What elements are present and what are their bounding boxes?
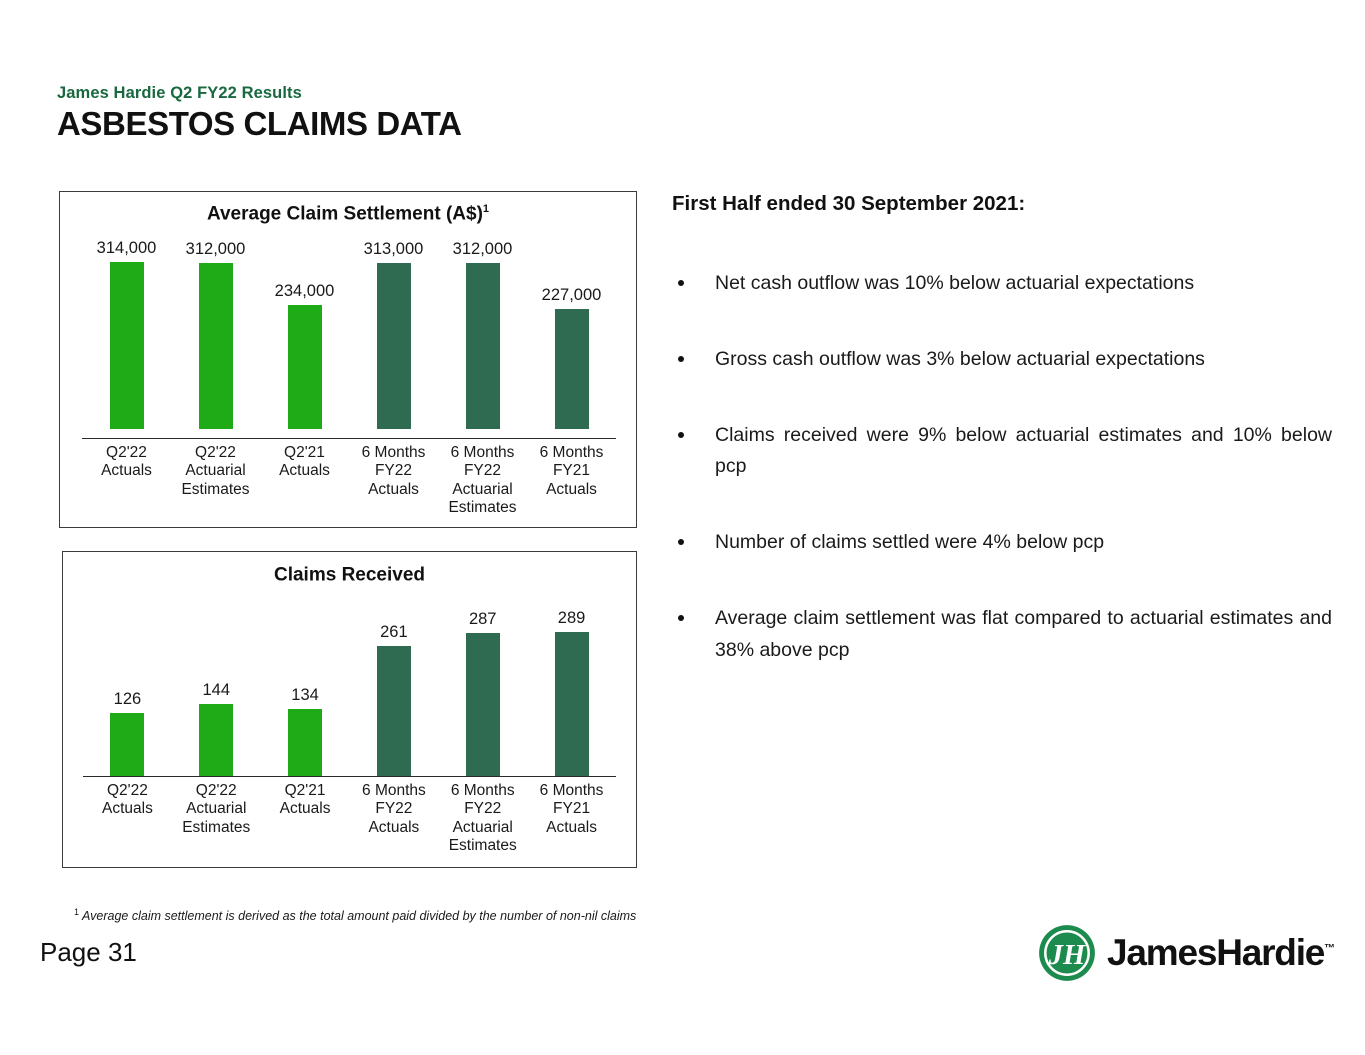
bullet-dot-icon: [678, 615, 684, 621]
bar: [199, 704, 233, 776]
header-eyebrow: James Hardie Q2 FY22 Results: [57, 84, 462, 103]
chart-claims-received: Claims Received 126144134261287289 Q2'22…: [62, 551, 637, 868]
chart-2-x-tick-labels: Q2'22 ActualsQ2'22 Actuarial EstimatesQ2…: [83, 782, 616, 855]
chart-1-x-axis: [82, 438, 616, 439]
slide-header: James Hardie Q2 FY22 Results ASBESTOS CL…: [57, 84, 462, 142]
x-tick-label: 6 Months FY22 Actuals: [349, 444, 438, 517]
bar-group: 312,000: [171, 238, 260, 429]
chart-1-title-text: Average Claim Settlement (A$): [207, 203, 483, 224]
bar-group: 313,000: [349, 238, 438, 429]
bar-value-label: 314,000: [97, 239, 157, 258]
bar-value-label: 312,000: [186, 240, 246, 259]
bar-value-label: 312,000: [453, 240, 513, 259]
bar-group: 314,000: [82, 238, 171, 429]
bar-value-label: 289: [558, 609, 586, 628]
summary-bullet-list: Net cash outflow was 10% below actuarial…: [672, 268, 1332, 666]
bullet-dot-icon: [678, 539, 684, 545]
chart-1-plot-area: 314,000312,000234,000313,000312,000227,0…: [82, 238, 616, 429]
bar: [466, 633, 500, 776]
chart-2-plot-area: 126144134261287289: [83, 604, 616, 776]
bar: [288, 305, 322, 429]
footnote-marker: 1: [74, 907, 79, 917]
bar: [377, 646, 411, 776]
chart-2-x-axis: [83, 776, 616, 777]
summary-bullet-item: Number of claims settled were 4% below p…: [672, 527, 1332, 559]
bar-value-label: 234,000: [275, 282, 335, 301]
bar: [377, 263, 411, 429]
footnote: 1 Average claim settlement is derived as…: [74, 907, 636, 923]
bar-group: 234,000: [260, 238, 349, 429]
x-tick-label: 6 Months FY21 Actuals: [527, 782, 616, 855]
summary-bullet-text: Gross cash outflow was 3% below actuaria…: [715, 348, 1205, 370]
summary-bullet-item: Average claim settlement was flat compar…: [672, 603, 1332, 667]
bar: [466, 263, 500, 429]
chart-average-claim-settlement: Average Claim Settlement (A$)1 314,00031…: [59, 191, 637, 528]
x-tick-label: Q2'21 Actuals: [260, 444, 349, 517]
chart-1-x-tick-labels: Q2'22 ActualsQ2'22 Actuarial EstimatesQ2…: [82, 444, 616, 517]
bar: [555, 632, 589, 776]
logo-word-text: JamesHardie: [1107, 932, 1324, 973]
x-tick-label: 6 Months FY21 Actuals: [527, 444, 616, 517]
summary-bullet-item: Gross cash outflow was 3% below actuaria…: [672, 344, 1332, 376]
page-number: Page 31: [40, 937, 137, 968]
summary-bullet-item: Net cash outflow was 10% below actuarial…: [672, 268, 1332, 300]
bar-group: 126: [83, 604, 172, 776]
bar-value-label: 261: [380, 623, 408, 642]
bar-value-label: 287: [469, 610, 497, 629]
bar-group: 312,000: [438, 238, 527, 429]
x-tick-label: 6 Months FY22 Actuarial Estimates: [438, 444, 527, 517]
chart-1-bars: 314,000312,000234,000313,000312,000227,0…: [82, 238, 616, 429]
chart-1-title-superscript: 1: [483, 203, 489, 215]
bar-group: 227,000: [527, 238, 616, 429]
x-tick-label: Q2'22 Actuals: [82, 444, 171, 517]
summary-bullet-text: Net cash outflow was 10% below actuarial…: [715, 272, 1194, 294]
bar: [555, 309, 589, 429]
james-hardie-logo: JH JamesHardie™: [1036, 922, 1335, 984]
bar: [288, 709, 322, 776]
summary-bullet-text: Claims received were 9% below actuarial …: [715, 424, 1332, 478]
bar-value-label: 227,000: [542, 286, 602, 305]
bar-group: 144: [172, 604, 261, 776]
summary-bullet-item: Claims received were 9% below actuarial …: [672, 420, 1332, 484]
bar: [199, 263, 233, 429]
bullet-dot-icon: [678, 356, 684, 362]
svg-text:JH: JH: [1048, 940, 1086, 971]
summary-heading: First Half ended 30 September 2021:: [672, 192, 1332, 216]
bar-group: 287: [438, 604, 527, 776]
x-tick-label: Q2'22 Actuarial Estimates: [171, 444, 260, 517]
bar-group: 289: [527, 604, 616, 776]
chart-1-title: Average Claim Settlement (A$)1: [60, 203, 636, 225]
summary-panel: First Half ended 30 September 2021: Net …: [672, 192, 1332, 710]
footnote-text: Average claim settlement is derived as t…: [82, 909, 636, 923]
page-title: ASBESTOS CLAIMS DATA: [57, 107, 462, 142]
bullet-dot-icon: [678, 432, 684, 438]
bar-value-label: 313,000: [364, 240, 424, 259]
summary-bullet-text: Number of claims settled were 4% below p…: [715, 531, 1104, 553]
trademark-symbol: ™: [1324, 943, 1335, 955]
x-tick-label: Q2'22 Actuals: [83, 782, 172, 855]
chart-2-title: Claims Received: [63, 564, 636, 586]
bar-group: 261: [349, 604, 438, 776]
bar-group: 134: [261, 604, 350, 776]
bar: [110, 713, 144, 776]
bar-value-label: 134: [291, 686, 319, 705]
chart-2-bars: 126144134261287289: [83, 604, 616, 776]
x-tick-label: Q2'21 Actuals: [261, 782, 350, 855]
summary-bullet-text: Average claim settlement was flat compar…: [715, 607, 1332, 661]
x-tick-label: 6 Months FY22 Actuals: [349, 782, 438, 855]
x-tick-label: 6 Months FY22 Actuarial Estimates: [438, 782, 527, 855]
x-tick-label: Q2'22 Actuarial Estimates: [172, 782, 261, 855]
bar: [110, 262, 144, 429]
bar-value-label: 126: [114, 690, 142, 709]
bar-value-label: 144: [202, 681, 230, 700]
logo-wordmark: JamesHardie™: [1107, 932, 1335, 974]
chart-2-title-text: Claims Received: [274, 564, 425, 585]
bullet-dot-icon: [678, 280, 684, 286]
jh-monogram-icon: JH: [1036, 922, 1098, 984]
